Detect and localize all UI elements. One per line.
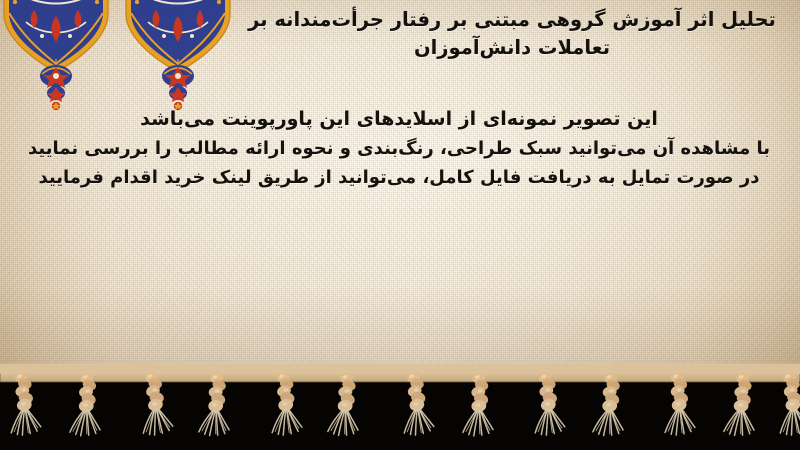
body-line-3: در صورت تمایل به دریافت فایل کامل، می‌تو… <box>28 167 770 188</box>
tassel <box>399 369 435 436</box>
slide-title-line-1: تحلیل اثر آموزش گروهی مبتنی بر رفتار جرأ… <box>242 6 782 34</box>
tassel <box>593 370 627 437</box>
slide-title: تحلیل اثر آموزش گروهی مبتنی بر رفتار جرأ… <box>242 6 782 61</box>
carpet-fringe-tassels <box>0 360 800 450</box>
tassel <box>7 369 41 436</box>
tassel <box>463 371 495 437</box>
tassel <box>269 369 302 435</box>
tassel <box>199 370 233 437</box>
slide-title-line-2: تعاملات دانش‌آموزان <box>242 34 782 62</box>
tassel <box>137 369 174 437</box>
tassel <box>663 370 695 436</box>
tassel <box>70 370 103 436</box>
tassel <box>724 370 760 437</box>
slide-body: این تصویر نمونه‌ای از اسلایدهای این پاور… <box>28 108 770 196</box>
fringe-svg <box>0 360 800 450</box>
body-line-2: با مشاهده آن می‌توانید سبک طراحی، رنگ‌بن… <box>28 138 770 159</box>
body-line-1: این تصویر نمونه‌ای از اسلایدهای این پاور… <box>28 108 770 130</box>
slide-canvas: تحلیل اثر آموزش گروهی مبتنی بر رفتار جرأ… <box>0 0 800 450</box>
tassel <box>328 370 364 437</box>
tassel <box>775 369 800 436</box>
tassel <box>531 369 565 436</box>
